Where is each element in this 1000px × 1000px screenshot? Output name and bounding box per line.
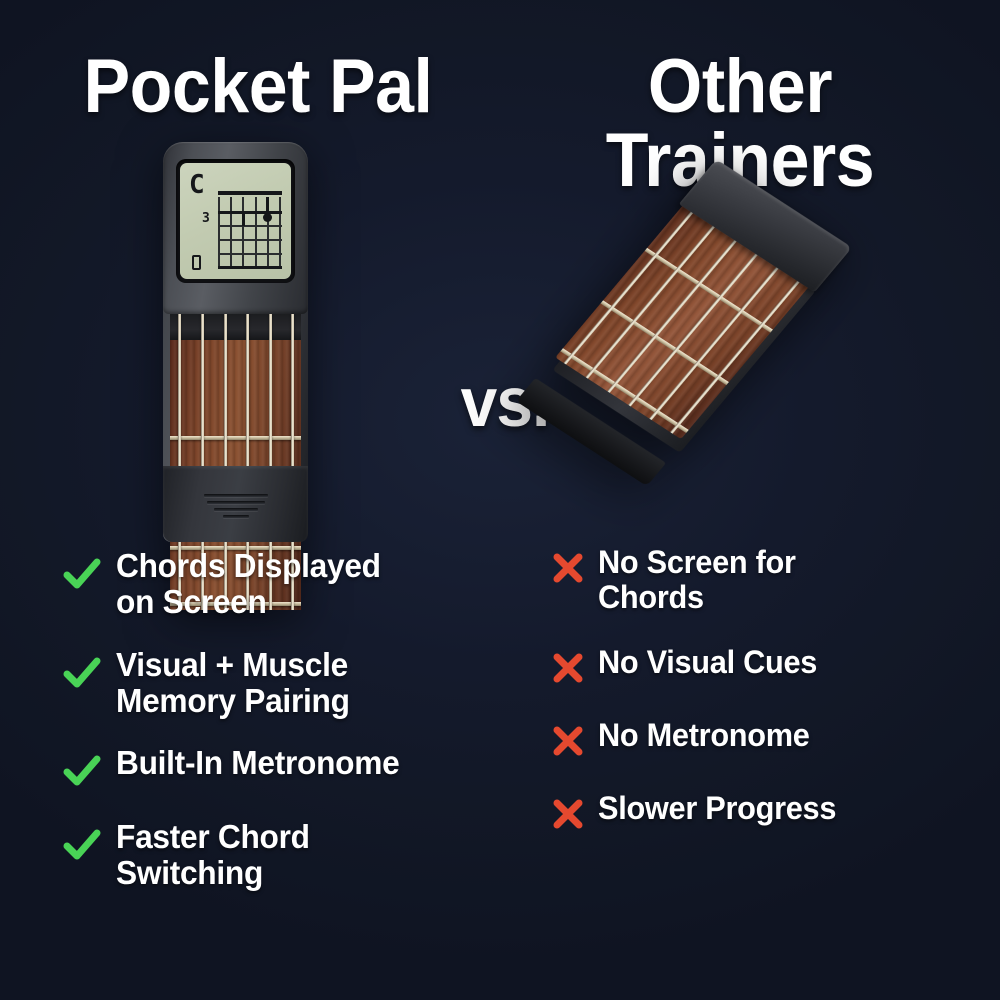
fretboard-nut <box>170 314 301 340</box>
other-device-rotated-wrapper <box>528 197 824 477</box>
lcd-chord-letter: C <box>189 172 205 198</box>
list-item-label: No Visual Cues <box>598 645 817 680</box>
lcd-chord-diagram <box>218 191 282 269</box>
comparison-infographic: Pocket Pal Other Trainers vs. C 3 <box>0 0 1000 1000</box>
check-icon <box>60 823 104 867</box>
list-item-label: No Screen for Chords <box>598 545 796 615</box>
list-item-label: Built-In Metronome <box>116 745 399 781</box>
cross-icon <box>548 648 588 688</box>
list-item: Faster Chord Switching <box>60 819 490 892</box>
device-base <box>163 466 308 542</box>
lcd-recess: C 3 <box>176 159 295 283</box>
list-item: Chords Displayed on Screen <box>60 548 490 621</box>
other-trainers-feature-list: No Screen for Chords No Visual Cues No M… <box>548 545 968 864</box>
heading-other-line1: Other <box>648 44 832 129</box>
cross-icon <box>548 721 588 761</box>
check-icon <box>60 552 104 596</box>
list-item-label: Slower Progress <box>598 791 836 826</box>
list-item: Visual + Muscle Memory Pairing <box>60 647 490 720</box>
list-item: No Screen for Chords <box>548 545 968 615</box>
check-icon <box>60 651 104 695</box>
pocket-pal-device-image: C 3 <box>163 142 308 542</box>
battery-icon <box>192 255 201 270</box>
pocket-pal-feature-list: Chords Displayed on Screen Visual + Musc… <box>60 548 490 918</box>
heading-pocket-pal: Pocket Pal <box>65 50 451 124</box>
list-item-label: Visual + Muscle Memory Pairing <box>116 647 350 720</box>
list-item-label: Faster Chord Switching <box>116 819 310 892</box>
list-item: Slower Progress <box>548 791 968 834</box>
cross-icon <box>548 794 588 834</box>
cross-icon <box>548 548 588 588</box>
lcd-fret-number: 3 <box>202 212 210 225</box>
lcd-screen: C 3 <box>180 163 291 279</box>
list-item: Built-In Metronome <box>60 745 490 793</box>
chord-finger-dot <box>263 213 272 222</box>
check-icon <box>60 749 104 793</box>
other-trainer-device-image <box>596 212 856 462</box>
speaker-grille-icon <box>204 494 268 522</box>
list-item-label: No Metronome <box>598 718 810 753</box>
list-item: No Visual Cues <box>548 645 968 688</box>
list-item: No Metronome <box>548 718 968 761</box>
list-item-label: Chords Displayed on Screen <box>116 548 381 621</box>
heading-pocket-pal-text: Pocket Pal <box>83 44 432 129</box>
chord-nut <box>218 191 282 195</box>
